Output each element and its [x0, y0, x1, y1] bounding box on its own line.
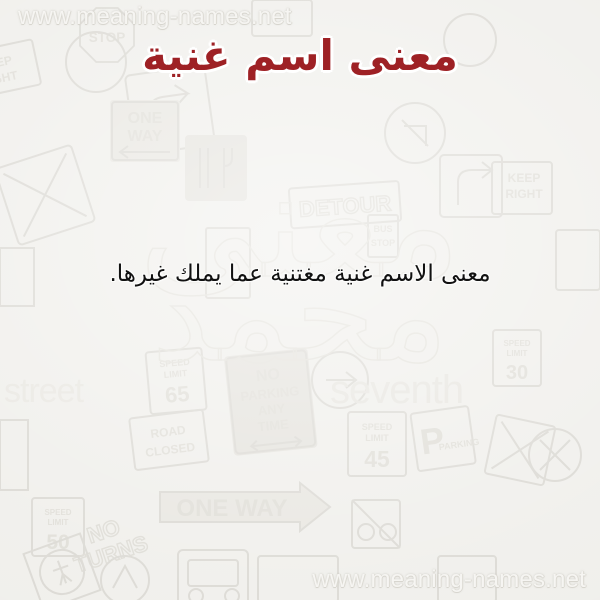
- svg-text:STOP: STOP: [371, 238, 395, 248]
- one-way-sign-bottom-icon: ONE WAY: [160, 483, 330, 531]
- svg-text:LIMIT: LIMIT: [365, 433, 389, 443]
- svg-text:PARKING: PARKING: [438, 437, 480, 453]
- road-sign-background-pattern: KEEP RIGHT ONE WAY: [0, 0, 600, 600]
- pedestrian-circle-sign-icon: [24, 534, 101, 600]
- rest-area-sign-icon: [185, 135, 247, 201]
- bus-sign-icon: [178, 550, 248, 600]
- speed-limit-50-sign-icon: SPEED LIMIT 50: [32, 498, 84, 556]
- brand-watermark-right: seventh: [330, 368, 463, 413]
- bg-sign-block-lower-left: [0, 420, 28, 490]
- page-title: معنى اسم غنية: [0, 30, 600, 82]
- bus-stop-sign-icon: BUS STOP: [368, 215, 398, 257]
- bg-sign-block-lower-right: [438, 556, 496, 600]
- speed-limit-45-sign-icon: SPEED LIMIT 45: [348, 412, 406, 476]
- svg-text:DETOUR: DETOUR: [298, 190, 392, 221]
- svg-text:TIME: TIME: [257, 416, 290, 434]
- svg-text:LIMIT: LIMIT: [48, 518, 69, 527]
- watermark-bottom-right: www.meaning-names.net: [312, 566, 586, 594]
- speed-limit-65-sign-icon: SPEED LIMIT 65: [145, 348, 206, 415]
- keep-right-sign-right-icon: KEEP RIGHT: [492, 162, 552, 214]
- svg-text:NO: NO: [84, 514, 123, 548]
- svg-text:LIMIT: LIMIT: [507, 349, 528, 358]
- svg-text:ANY: ANY: [257, 400, 286, 418]
- svg-text:P: P: [418, 419, 447, 463]
- speed-limit-30-sign-icon: SPEED LIMIT 30: [493, 330, 541, 386]
- svg-text:PARKING: PARKING: [240, 383, 300, 404]
- roundabout-arrow-sign-icon: [312, 352, 368, 408]
- railroad-crossing-sign-right-icon: [484, 414, 555, 485]
- svg-text:BUS: BUS: [373, 224, 392, 234]
- road-closed-sign-icon: ROAD CLOSED: [129, 410, 209, 471]
- svg-text:KEEP: KEEP: [508, 171, 541, 185]
- svg-text:NO: NO: [255, 366, 281, 385]
- name-meaning-card: KEEP RIGHT ONE WAY: [0, 0, 600, 600]
- svg-text:SPEED: SPEED: [503, 339, 530, 348]
- svg-text:LIMIT: LIMIT: [163, 368, 188, 380]
- svg-text:ONE WAY: ONE WAY: [176, 495, 287, 522]
- no-crossing-sign-icon: [529, 429, 581, 481]
- svg-text:RIGHT: RIGHT: [505, 187, 543, 201]
- svg-text:45: 45: [364, 446, 390, 472]
- svg-text:50: 50: [46, 531, 69, 554]
- svg-text:ROAD: ROAD: [150, 423, 187, 441]
- svg-text:WAY: WAY: [128, 128, 163, 145]
- svg-text:SPEED: SPEED: [159, 357, 191, 370]
- svg-text:30: 30: [506, 362, 528, 384]
- brand-watermark-left: street: [4, 372, 83, 411]
- bike-route-circle-sign-icon: [101, 556, 149, 600]
- no-entry-sign-icon: [385, 103, 445, 163]
- svg-text:SPEED: SPEED: [44, 508, 71, 517]
- railroad-crossing-sign-icon: [0, 145, 95, 246]
- name-meaning-text: معنى الاسم غنية مغتنية عما يملك غيرها.: [0, 258, 600, 290]
- no-turns-sign-icon: NO TURNS: [64, 508, 151, 578]
- svg-text:65: 65: [164, 381, 191, 408]
- no-parking-any-time-sign-icon: NO PARKING ANY TIME: [224, 348, 318, 456]
- svg-text:TURNS: TURNS: [71, 530, 151, 577]
- detour-sign-icon: DETOUR: [289, 181, 402, 229]
- parking-sign-icon: P PARKING: [410, 405, 482, 471]
- svg-text:SPEED: SPEED: [362, 422, 393, 432]
- svg-text:ONE: ONE: [128, 110, 163, 127]
- watermark-top-left: www.meaning-names.net: [18, 3, 292, 31]
- one-way-sign-top-icon: ONE WAY: [110, 100, 180, 162]
- bg-sign-block-bottom: [258, 556, 338, 600]
- background-light-wash: [0, 0, 600, 600]
- right-turn-arrow-sign-icon: [440, 155, 502, 217]
- svg-text:CLOSED: CLOSED: [145, 440, 197, 460]
- no-bicycle-sign-icon: [352, 500, 400, 548]
